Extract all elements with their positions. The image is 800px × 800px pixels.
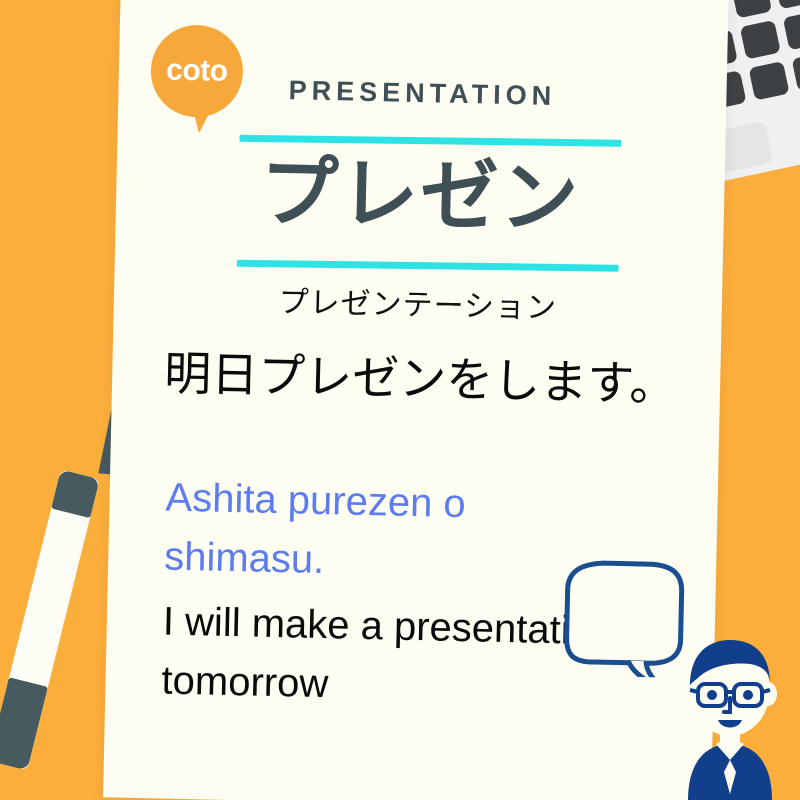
flashcard: coto PRESENTATION プレゼン プレゼンテーション 明日プレゼンを… bbox=[103, 0, 729, 800]
poster-canvas: coto PRESENTATION プレゼン プレゼンテーション 明日プレゼンを… bbox=[0, 0, 800, 800]
divider-rule-top bbox=[239, 135, 621, 147]
divider-rule-bottom bbox=[237, 260, 619, 272]
businessman-character-illustration bbox=[666, 632, 794, 800]
example-sentence-romaji: Ashita purezen o shimasu. bbox=[164, 469, 586, 597]
vocab-headline: プレゼン bbox=[115, 149, 725, 240]
example-sentence-japanese: 明日プレゼンをします。 bbox=[164, 347, 705, 413]
vocab-reading: プレゼンテーション bbox=[113, 273, 722, 330]
